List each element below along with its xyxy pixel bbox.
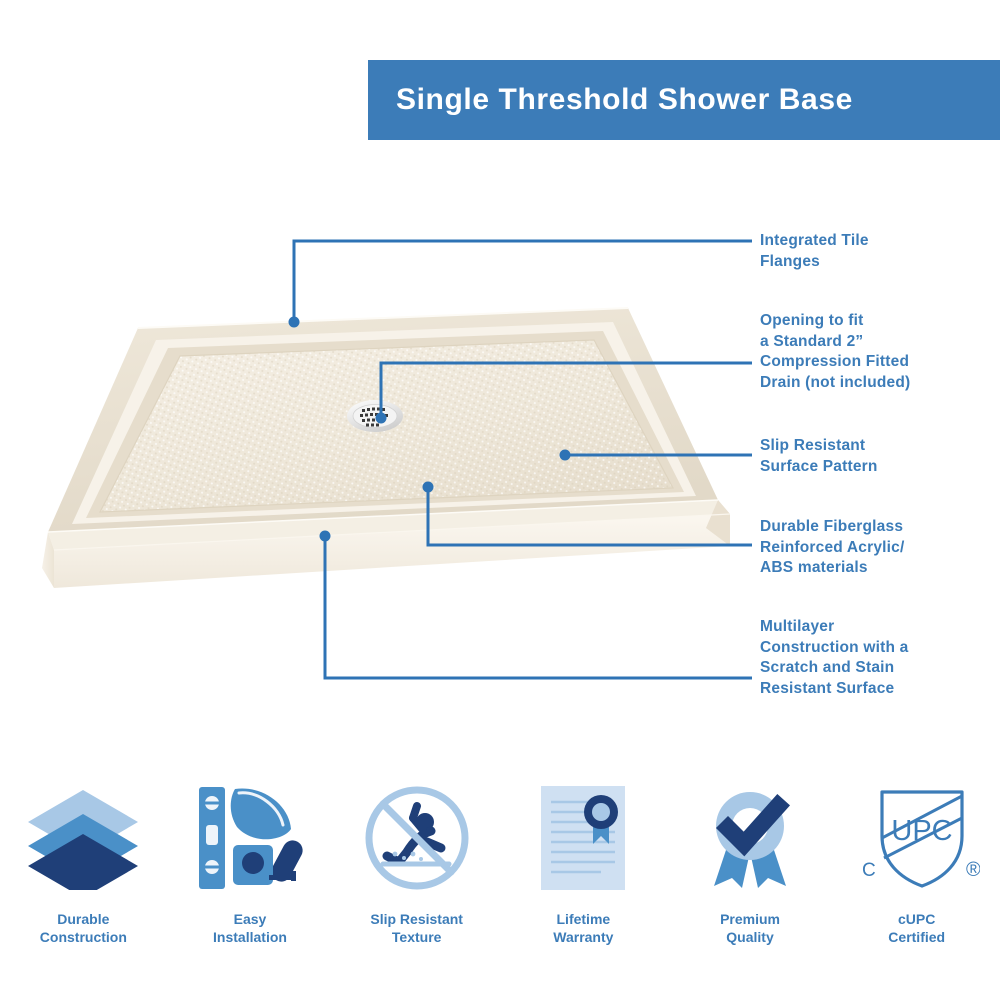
feature-badges-row: Durable Construction — [0, 778, 1000, 968]
callout-line: Reinforced Acrylic/ — [760, 538, 905, 559]
callout-line: Drain (not included) — [760, 373, 910, 394]
callout-multilayer-construction: Multilayer Construction with a Scratch a… — [760, 617, 908, 699]
level-trowel-icon — [191, 778, 309, 898]
feature-label-line: Quality — [720, 928, 780, 946]
callout-line: Scratch and Stain — [760, 658, 908, 679]
feature-label-line: Construction — [40, 928, 127, 946]
upc-shield-icon: UPC C ® — [854, 778, 980, 898]
feature-label-line: Installation — [213, 928, 287, 946]
feature-label-line: Certified — [888, 928, 945, 946]
feature-premium-quality: Premium Quality — [667, 778, 834, 946]
callout-line: Compression Fitted — [760, 352, 910, 373]
feature-label-line: Slip Resistant — [370, 910, 463, 928]
layers-icon — [24, 778, 142, 898]
feature-label-line: Lifetime — [553, 910, 613, 928]
callout-drain-opening: Opening to fit a Standard 2” Compression… — [760, 311, 910, 393]
upc-shield-text: UPC — [891, 815, 952, 847]
upc-shield-prefix: C — [862, 860, 876, 881]
feature-label-line: Warranty — [553, 928, 613, 946]
callout-line: Opening to fit — [760, 311, 910, 332]
callout-line: Slip Resistant — [760, 436, 878, 457]
callout-integrated-tile-flanges: Integrated Tile Flanges — [760, 231, 869, 272]
callout-line: ABS materials — [760, 558, 905, 579]
feature-label: Durable Construction — [40, 910, 127, 946]
feature-label: Lifetime Warranty — [553, 910, 613, 946]
feature-lifetime-warranty: Lifetime Warranty — [500, 778, 667, 946]
certificate-icon — [531, 778, 635, 898]
feature-easy-installation: Easy Installation — [167, 778, 334, 946]
product-infographic: Single Threshold Shower Base — [0, 0, 1000, 1000]
callout-slip-resistant-surface: Slip Resistant Surface Pattern — [760, 436, 878, 477]
feature-label: Premium Quality — [720, 910, 780, 946]
feature-label-line: cUPC — [888, 910, 945, 928]
callout-line: Durable Fiberglass — [760, 517, 905, 538]
feature-label-line: Premium — [720, 910, 780, 928]
feature-label: Easy Installation — [213, 910, 287, 946]
callout-line: Surface Pattern — [760, 457, 878, 478]
feature-durable-construction: Durable Construction — [0, 778, 167, 946]
feature-slip-resistant-texture: Slip Resistant Texture — [333, 778, 500, 946]
callout-line: Flanges — [760, 252, 869, 273]
feature-label: Slip Resistant Texture — [370, 910, 463, 946]
callout-line: Integrated Tile — [760, 231, 869, 252]
callout-line: Construction with a — [760, 638, 908, 659]
feature-label-line: Texture — [370, 928, 463, 946]
feature-label: cUPC Certified — [888, 910, 945, 946]
feature-cupc-certified: UPC C ® cUPC Certified — [833, 778, 1000, 946]
check-rosette-icon — [698, 778, 802, 898]
no-slip-icon — [361, 778, 473, 898]
callout-line: Resistant Surface — [760, 679, 908, 700]
feature-label-line: Durable — [40, 910, 127, 928]
registered-mark-icon: ® — [966, 859, 980, 881]
feature-label-line: Easy — [213, 910, 287, 928]
callout-line: a Standard 2” — [760, 332, 910, 353]
callout-durable-materials: Durable Fiberglass Reinforced Acrylic/ A… — [760, 517, 905, 579]
callout-line: Multilayer — [760, 617, 908, 638]
